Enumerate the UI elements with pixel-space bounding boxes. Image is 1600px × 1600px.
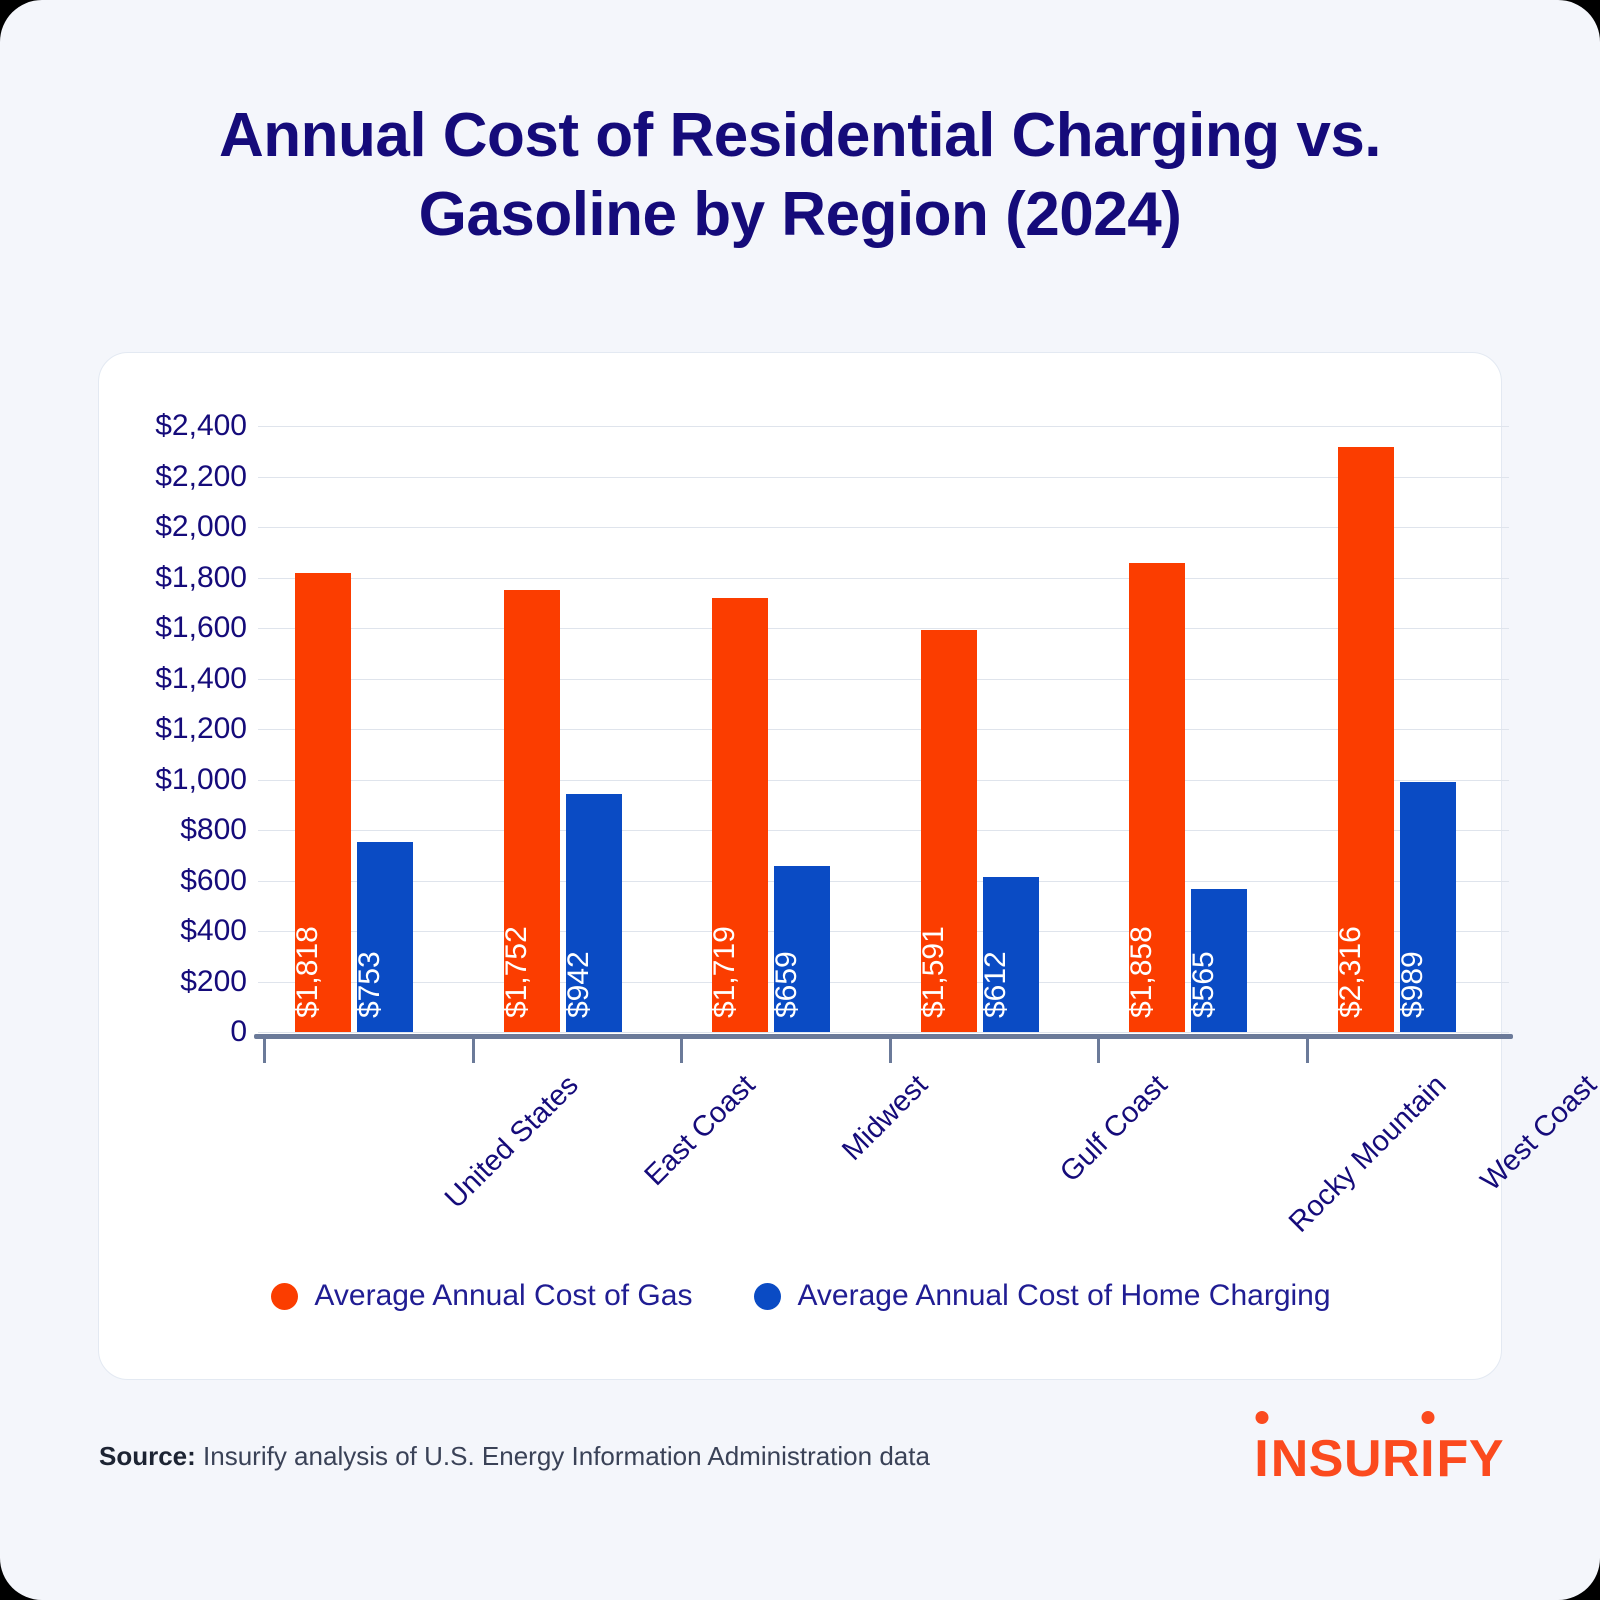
- chart-legend: Average Annual Cost of Gas Average Annua…: [99, 1279, 1503, 1313]
- logo-dot-icon: [1422, 1411, 1435, 1424]
- y-axis-tick-label: $600: [180, 866, 247, 896]
- bar-value-label: $1,752: [502, 926, 532, 1018]
- bar-value-label: $989: [1398, 951, 1428, 1018]
- legend-swatch-gas-icon: [271, 1283, 298, 1310]
- x-axis-tick: [889, 1039, 892, 1063]
- bar-home-charging[interactable]: $942: [566, 794, 622, 1032]
- source-text: Insurify analysis of U.S. Energy Informa…: [196, 1441, 930, 1471]
- gridline: [258, 931, 1509, 932]
- bar-gas[interactable]: $1,591: [921, 630, 977, 1032]
- gridline: [258, 628, 1509, 629]
- bar-value-label: $1,858: [1127, 926, 1157, 1018]
- gridline: [258, 982, 1509, 983]
- legend-label-gas: Average Annual Cost of Gas: [314, 1279, 692, 1313]
- gridline: [258, 729, 1509, 730]
- bar-gas[interactable]: $1,752: [504, 590, 560, 1032]
- y-axis-tick-label: $2,000: [155, 512, 247, 542]
- x-axis-category-label: West Coast: [1474, 1069, 1600, 1198]
- bar-gas[interactable]: $2,316: [1338, 447, 1394, 1032]
- gridline: [258, 578, 1509, 579]
- bar-gas[interactable]: $1,818: [295, 573, 351, 1032]
- bar-gas[interactable]: $1,858: [1129, 563, 1185, 1032]
- source-prefix: Source:: [99, 1441, 196, 1471]
- legend-label-home-charging: Average Annual Cost of Home Charging: [797, 1279, 1330, 1313]
- page-title: Annual Cost of Residential Charging vs. …: [110, 96, 1490, 255]
- logo-dot-icon: [1256, 1411, 1269, 1424]
- gridline: [258, 1032, 1509, 1033]
- gridline: [258, 780, 1509, 781]
- bar-value-label: $942: [564, 951, 594, 1018]
- insurify-logo-text: INSURIFY: [1254, 1433, 1504, 1485]
- x-axis-category-label: East Coast: [638, 1069, 762, 1193]
- bar-home-charging[interactable]: $989: [1400, 782, 1456, 1032]
- x-axis-tick: [1097, 1039, 1100, 1063]
- gridline: [258, 679, 1509, 680]
- y-axis-tick-label: $200: [180, 967, 247, 997]
- gridline: [258, 527, 1509, 528]
- y-axis-tick-label: $400: [180, 916, 247, 946]
- legend-item-gas[interactable]: Average Annual Cost of Gas: [271, 1279, 692, 1313]
- bar-value-label: $1,719: [710, 926, 740, 1018]
- y-axis-tick-label: $800: [180, 815, 247, 845]
- bar-value-label: $659: [772, 951, 802, 1018]
- insurify-logo[interactable]: INSURIFY: [1254, 1423, 1504, 1485]
- y-axis-tick-label: $1,000: [155, 765, 247, 795]
- gridline: [258, 881, 1509, 882]
- bar-home-charging[interactable]: $612: [983, 877, 1039, 1032]
- bar-value-label: $1,591: [919, 926, 949, 1018]
- y-axis-tick-label: $1,600: [155, 613, 247, 643]
- x-axis-tick: [1306, 1039, 1309, 1063]
- y-axis-tick-label: $2,200: [155, 462, 247, 492]
- gridline: [258, 477, 1509, 478]
- y-axis-tick-label: $1,200: [155, 714, 247, 744]
- bar-home-charging[interactable]: $565: [1191, 889, 1247, 1032]
- legend-swatch-home-charging-icon: [754, 1283, 781, 1310]
- bar-home-charging[interactable]: $659: [774, 866, 830, 1032]
- x-axis-category-label: Gulf Coast: [1054, 1069, 1174, 1189]
- x-axis-category-label: Midwest: [836, 1069, 935, 1168]
- x-axis-category-label: United States: [439, 1069, 585, 1215]
- x-axis-category-label: Rocky Mountain: [1283, 1069, 1453, 1239]
- plot-area: 0$200$400$600$800$1,000$1,200$1,400$1,60…: [258, 426, 1509, 1032]
- bar-gas[interactable]: $1,719: [712, 598, 768, 1032]
- bar-home-charging[interactable]: $753: [357, 842, 413, 1032]
- y-axis-tick-label: 0: [230, 1017, 247, 1047]
- chart-card: 0$200$400$600$800$1,000$1,200$1,400$1,60…: [98, 352, 1502, 1380]
- y-axis-tick-label: $2,400: [155, 411, 247, 441]
- bar-value-label: $1,818: [293, 926, 323, 1018]
- x-axis-tick: [680, 1039, 683, 1063]
- legend-item-home-charging[interactable]: Average Annual Cost of Home Charging: [754, 1279, 1330, 1313]
- source-note: Source: Insurify analysis of U.S. Energy…: [99, 1441, 930, 1472]
- bar-value-label: $612: [981, 951, 1011, 1018]
- x-axis-line: [254, 1034, 1513, 1039]
- infographic-page: Annual Cost of Residential Charging vs. …: [0, 0, 1600, 1600]
- gridline: [258, 830, 1509, 831]
- x-axis-tick: [472, 1039, 475, 1063]
- x-axis-tick: [263, 1039, 266, 1063]
- bar-value-label: $2,316: [1336, 926, 1366, 1018]
- y-axis-tick-label: $1,400: [155, 664, 247, 694]
- bar-value-label: $565: [1189, 951, 1219, 1018]
- gridline: [258, 426, 1509, 427]
- y-axis-tick-label: $1,800: [155, 563, 247, 593]
- bar-value-label: $753: [355, 951, 385, 1018]
